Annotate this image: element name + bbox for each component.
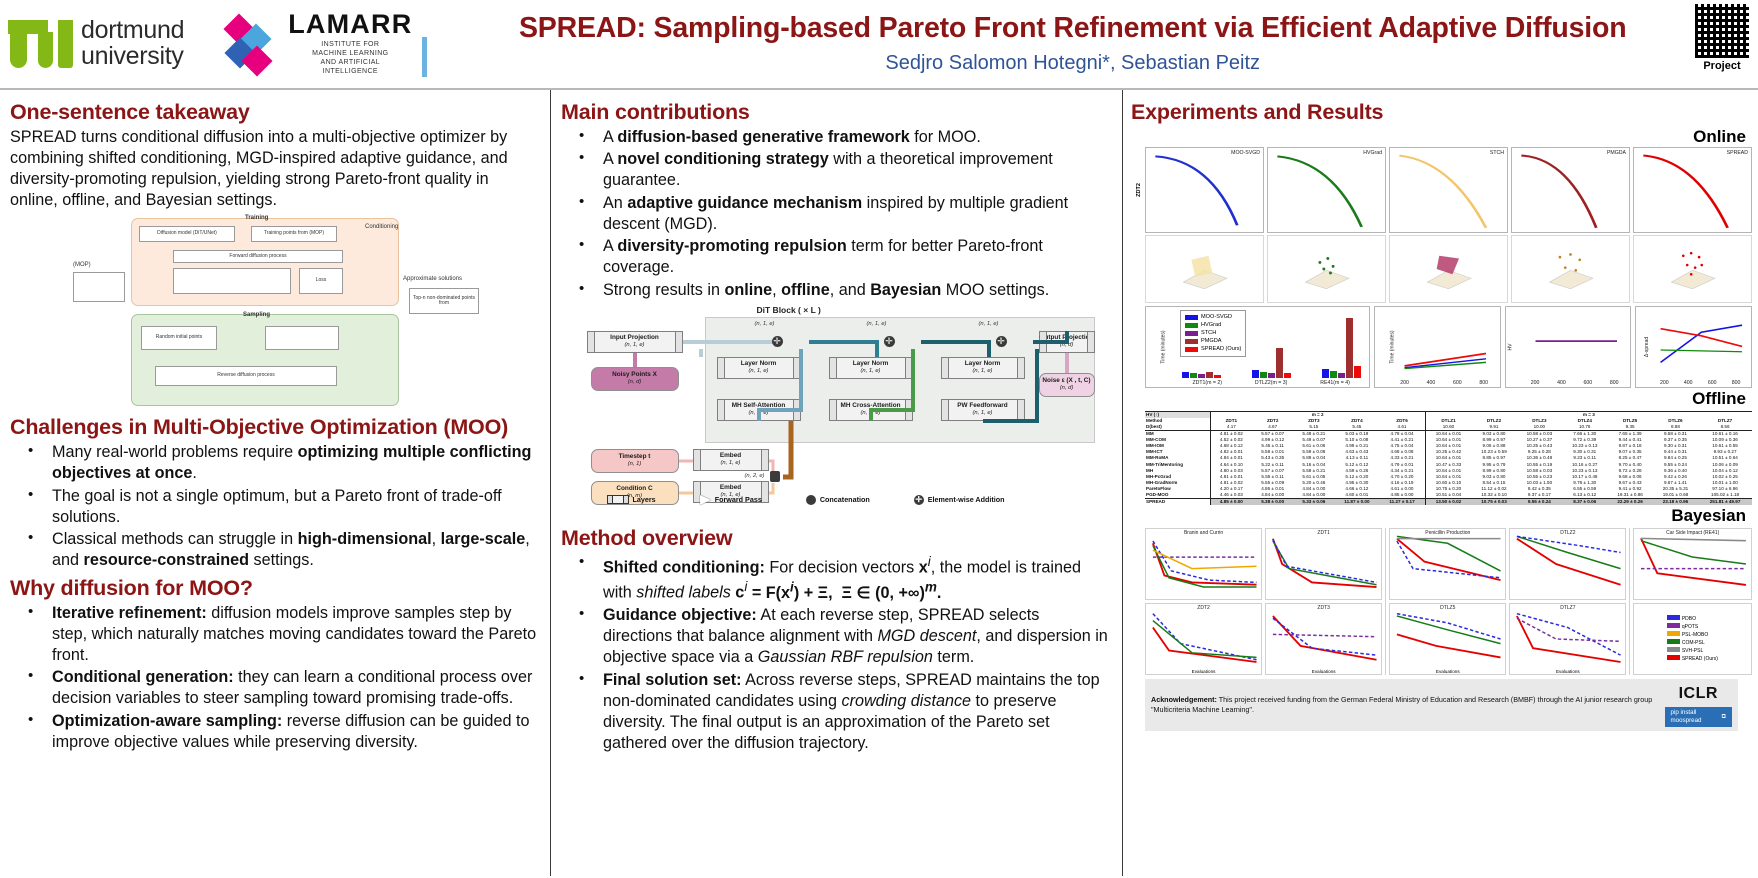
qr-code-icon[interactable] bbox=[1694, 3, 1750, 59]
dit-layer-norm-3-label: Layer Norm bbox=[965, 360, 1001, 368]
pipeline-box-forward-diffusion: Forward diffusion process bbox=[173, 250, 343, 263]
plot-3d-hvgrad bbox=[1267, 235, 1386, 303]
dit-noise-output-label: Noise ε (X , t, C) bbox=[1042, 377, 1090, 385]
takeaway-text: SPREAD turns conditional diffusion into … bbox=[10, 127, 540, 211]
copy-icon[interactable]: ⧉ bbox=[1722, 713, 1726, 721]
column-left: One-sentence takeaway SPREAD turns condi… bbox=[0, 90, 550, 876]
bayes-plot-penicillin: Penicillin Production bbox=[1389, 528, 1506, 600]
bayes-plot-title: Branin and Currin bbox=[1146, 530, 1261, 536]
chart-time-vs-n: Time (minutes) 200 400 600 800 bbox=[1374, 306, 1501, 388]
pipeline-training-label: Training bbox=[245, 215, 268, 221]
online-3d-plots: DTLZ7 bbox=[1131, 235, 1752, 303]
tag-bayesian: Bayesian bbox=[1131, 506, 1746, 526]
plus-circle-icon: ✛ bbox=[914, 495, 924, 505]
bayes-xlabel: Evaluations bbox=[1146, 669, 1261, 674]
dit-mh-cross-attention: MH Cross-Attention (n, 1, e) bbox=[829, 399, 913, 421]
poster-authors: Sedjro Salomon Hotegni*, Sebastian Peitz bbox=[397, 52, 1748, 75]
dit-layer-norm-3: Layer Norm (n, 1, e) bbox=[941, 357, 1025, 379]
bayes-plot-title: ZDT3 bbox=[1266, 605, 1381, 611]
dit-dim-tag-1: (n, 1, e) bbox=[755, 321, 775, 327]
list-item: A novel conditioning strategy with a the… bbox=[561, 149, 1112, 191]
dit-embed-timestep-dim: (n, 1, e) bbox=[721, 460, 741, 467]
dit-noise-output-dim: (n, d) bbox=[1060, 385, 1074, 392]
dit-pw-feedforward: PW Feedforward (n, 1, e) bbox=[941, 399, 1025, 421]
table-cell: 11.87 ± 0.00 bbox=[1334, 498, 1379, 505]
table-cell: 11.27 ± 0.17 bbox=[1379, 498, 1425, 505]
figure-training-sampling-pipeline: Training Sampling Conditioning (MOP) App… bbox=[65, 216, 485, 411]
table-cell: 4.85 ± 0.00 bbox=[1210, 498, 1252, 505]
dit-legend: Layers Forward Pass Concatenation ✛ Elem… bbox=[607, 495, 1087, 505]
line-chart-spread-xticks: 200 400 600 800 bbox=[1652, 380, 1748, 386]
poster-title: SPREAD: Sampling-based Pareto Front Refi… bbox=[397, 13, 1748, 44]
table-cell: 23.18 ± 0.96 bbox=[1653, 498, 1698, 505]
table-cell: 5.33 ± 0.06 bbox=[1293, 498, 1334, 505]
bayes-plot-title: ZDT1 bbox=[1266, 530, 1381, 536]
project-qr-block[interactable]: Project bbox=[1694, 3, 1750, 72]
table-row: SPREAD4.85 ± 0.005.38 ± 0.005.33 ± 0.061… bbox=[1145, 498, 1752, 505]
dit-mh-self-attention-dim: (n, 1, e) bbox=[749, 410, 769, 417]
dit-noisy-points: Noisy Points X (n, d) bbox=[591, 367, 679, 391]
dit-output-projection: Output Projection (n, d) bbox=[1039, 331, 1095, 353]
table-cell: 10.75 ± 0.03 bbox=[1471, 498, 1516, 505]
bayes-plot-dtlz5: DTLZ5 Evaluations bbox=[1389, 603, 1506, 675]
list-item: An adaptive guidance mechanism inspired … bbox=[561, 193, 1112, 235]
acknowledgement-block: Acknowledgement: This project received f… bbox=[1145, 679, 1738, 731]
tu-logo-wordmark: dortmund university bbox=[81, 18, 184, 70]
plot-3d-spread bbox=[1633, 235, 1752, 303]
acknowledgement-label: Acknowledgement: bbox=[1151, 695, 1217, 704]
dit-pw-feedforward-label: PW Feedforward bbox=[957, 402, 1007, 410]
legend-row: PSL-MOBO bbox=[1667, 631, 1718, 639]
bayes-plot-zdt3: ZDT3 Evaluations bbox=[1265, 603, 1382, 675]
offline-results-table-wrap: HV (↑) m = 2 m = 3 Method ZDT1 ZDT2 ZDT3… bbox=[1131, 411, 1752, 505]
bayes-plot-title: DTLZ7 bbox=[1510, 605, 1625, 611]
section-contributions-heading: Main contributions bbox=[561, 100, 1112, 125]
pipeline-box-loss: Loss bbox=[299, 268, 343, 294]
bayes-plot-branin-currin: Branin and Currin bbox=[1145, 528, 1262, 600]
dit-mh-cross-attention-dim: (n, 1, e) bbox=[861, 410, 881, 417]
line-chart-hv-xticks: 200 400 600 800 bbox=[1522, 380, 1628, 386]
table-cell: 13.50 ± 0.02 bbox=[1425, 498, 1471, 505]
section-why-diffusion-heading: Why diffusion for MOO? bbox=[10, 576, 540, 601]
pipeline-box-topn: Top-n non-dominated points from bbox=[409, 288, 479, 314]
list-item: Classical methods can struggle in high-d… bbox=[10, 529, 540, 571]
dit-layer-norm-1-label: Layer Norm bbox=[741, 360, 777, 368]
dit-embed-timestep: Embed (n, 1, e) bbox=[693, 449, 769, 471]
dit-layer-norm-3-dim: (n, 1, e) bbox=[973, 368, 993, 375]
dit-layer-norm-2-dim: (n, 1, e) bbox=[861, 368, 881, 375]
list-item: Optimization-aware sampling: reverse dif… bbox=[10, 711, 540, 753]
dit-timestep-dim: (n, 1) bbox=[628, 461, 642, 468]
iclr-logo: ICLR pip install moospread ⧉ bbox=[1665, 683, 1732, 727]
legend-row: qPOTS bbox=[1667, 623, 1718, 631]
legend-layers-label: Layers bbox=[633, 495, 656, 504]
pipeline-box-diffusion-model: Diffusion model (DiT/UNet) bbox=[139, 226, 235, 242]
dit-add-node-3: ✛ bbox=[996, 336, 1007, 347]
legend-row: SPREAD (Ours) bbox=[1667, 655, 1718, 663]
bayes-xlabel: Evaluations bbox=[1266, 669, 1381, 674]
challenges-list: Many real-world problems require optimiz… bbox=[10, 442, 540, 571]
bayes-plot-zdt1: ZDT1 bbox=[1265, 528, 1382, 600]
legend-item-forward-pass: Forward Pass bbox=[700, 495, 762, 505]
dit-dim-tag-2: (n, 1, e) bbox=[867, 321, 887, 327]
method-list: Shifted conditioning: For decision vecto… bbox=[561, 553, 1112, 755]
dit-embed-condition-label: Embed bbox=[720, 484, 741, 492]
legend-item-layers: Layers bbox=[607, 495, 656, 504]
dit-mh-self-attention: MH Self-Attention (n, 1, e) bbox=[717, 399, 801, 421]
online-row-label: ZDT2 bbox=[1136, 183, 1142, 197]
list-item: Many real-world problems require optimiz… bbox=[10, 442, 540, 484]
dit-noisy-points-label: Noisy Points X bbox=[612, 371, 657, 379]
dit-add-node-2: ✛ bbox=[884, 336, 895, 347]
dit-input-projection-label: Input Projection bbox=[610, 334, 659, 342]
offline-table-body: MM4.81 ± 0.025.57 ± 0.075.48 ± 0.215.03 … bbox=[1145, 431, 1752, 505]
legend-addition-label: Element-wise Addition bbox=[928, 495, 1005, 504]
section-takeaway-heading: One-sentence takeaway bbox=[10, 100, 540, 125]
acknowledgement-body: This project received funding from the G… bbox=[1151, 695, 1652, 714]
dit-output-projection-label: Output Projection bbox=[1040, 334, 1094, 342]
pareto-plot-moo-svgd: ZDT2 MOO-SVGD bbox=[1145, 147, 1264, 233]
line-chart-spread-ylabel: Δ-spread bbox=[1645, 337, 1651, 357]
bar-chart-ylabel: Time (minutes) bbox=[1161, 330, 1167, 363]
table-row-method: SPREAD bbox=[1145, 498, 1210, 505]
dit-block-title: DiT Block ( × L ) bbox=[757, 305, 821, 315]
legend-row: SVH-PSL bbox=[1667, 647, 1718, 655]
why-diffusion-list: Iterative refinement: diffusion models i… bbox=[10, 603, 540, 754]
bayes-xlabel: Evaluations bbox=[1510, 669, 1625, 674]
figure-dit-architecture: DiT Block ( × L ) Input Projection (n, 1… bbox=[577, 305, 1097, 520]
bayes-xlabel: Evaluations bbox=[1390, 669, 1505, 674]
list-item: Shifted conditioning: For decision vecto… bbox=[561, 553, 1112, 604]
legend-concatenation-label: Concatenation bbox=[820, 495, 870, 504]
table-cell: 251.81 ± 49.97 bbox=[1698, 498, 1752, 505]
bayes-plot-dtlz2: DTLZ2 bbox=[1509, 528, 1626, 600]
title-block: SPREAD: Sampling-based Pareto Front Refi… bbox=[387, 13, 1758, 74]
lamarr-logo-icon bbox=[226, 16, 282, 72]
dit-timestep-label: Timestep t bbox=[619, 453, 651, 461]
list-item: A diversity-promoting repulsion term for… bbox=[561, 236, 1112, 278]
tu-line-1: dortmund bbox=[81, 18, 184, 44]
tag-online: Online bbox=[1131, 127, 1746, 147]
bayes-plot-title: DTLZ2 bbox=[1510, 530, 1625, 536]
tu-dortmund-logo: dortmund university bbox=[8, 18, 184, 70]
list-item: Strong results in online, offline, and B… bbox=[561, 280, 1112, 301]
contributions-list: A diffusion-based generative framework f… bbox=[561, 127, 1112, 301]
chart-spread-vs-n: Δ-spread 200 400 600 800 bbox=[1635, 306, 1752, 388]
legend-forward-pass-label: Forward Pass bbox=[715, 495, 762, 504]
list-item: Conditional generation: they can learn a… bbox=[10, 667, 540, 709]
chart-time-bars: Time (minutes) MOO-SVGD HVGrad STCH PMGD… bbox=[1145, 306, 1370, 388]
section-challenges-heading: Challenges in Multi-Objective Optimizati… bbox=[10, 415, 540, 440]
dit-layer-norm-2: Layer Norm (n, 1, e) bbox=[829, 357, 913, 379]
table-cell: 9.55 ± 0.24 bbox=[1517, 498, 1562, 505]
pipeline-approx-label: Approximate solutions bbox=[403, 276, 462, 282]
legend-item-concatenation: Concatenation bbox=[806, 495, 870, 505]
dit-input-projection: Input Projection (n, 1, e) bbox=[587, 331, 683, 353]
dit-input-projection-dim: (n, 1, e) bbox=[625, 342, 645, 349]
list-item: Iterative refinement: diffusion models i… bbox=[10, 603, 540, 667]
bayes-plot-car-side-impact: Car Side Impact (RE41) bbox=[1633, 528, 1752, 600]
pareto-plot-hvgrad: HVGrad bbox=[1267, 147, 1386, 233]
line-chart-time-xticks: 200 400 600 800 bbox=[1391, 380, 1497, 386]
dit-noisy-points-dim: (n, d) bbox=[628, 379, 642, 386]
legend-row: COM-PSL bbox=[1667, 639, 1718, 647]
line-chart-hv-ylabel: HV bbox=[1507, 344, 1513, 351]
dit-block-panel bbox=[705, 317, 1095, 443]
bayes-plot-title: DTLZ5 bbox=[1390, 605, 1505, 611]
pipeline-mop-label: (MOP) bbox=[73, 262, 91, 268]
legend-item-element-wise-addition: ✛ Element-wise Addition bbox=[914, 495, 1005, 505]
plot-3d-moo-svgd: DTLZ7 bbox=[1145, 235, 1264, 303]
list-item: A diffusion-based generative framework f… bbox=[561, 127, 1112, 148]
pip-command-text: pip install moospread bbox=[1671, 709, 1716, 726]
dit-noise-output: Noise ε (X , t, C) (n, d) bbox=[1039, 373, 1095, 397]
dit-layer-norm-2-label: Layer Norm bbox=[853, 360, 889, 368]
pipeline-conditioning-label: Conditioning bbox=[365, 224, 398, 230]
column-middle: Main contributions A diffusion-based gen… bbox=[550, 90, 1122, 876]
bayes-plot-title: Car Side Impact (RE41) bbox=[1634, 530, 1751, 536]
online-pareto-plots: ZDT2 MOO-SVGD HVGrad STCH PMGDA SP bbox=[1131, 147, 1752, 233]
section-method-heading: Method overview bbox=[561, 526, 1112, 551]
poster-root: dortmund university LAMARR INSTITUTE FOR… bbox=[0, 0, 1758, 878]
poster-header: dortmund university LAMARR INSTITUTE FOR… bbox=[0, 0, 1758, 90]
chart-hv-vs-n: HV 200 400 600 800 bbox=[1505, 306, 1632, 388]
iclr-label: ICLR bbox=[1679, 683, 1718, 705]
pipeline-box-reverse-diffusion: Reverse diffusion process bbox=[155, 366, 337, 386]
pip-install-command[interactable]: pip install moospread ⧉ bbox=[1665, 707, 1732, 728]
legend-row: PDBO bbox=[1667, 615, 1718, 623]
table-cell: 8.37 ± 0.06 bbox=[1562, 498, 1607, 505]
bayes-plot-zdt2: ZDT2 Evaluations bbox=[1145, 603, 1262, 675]
concatenation-icon bbox=[806, 495, 816, 505]
pipeline-box-denoise bbox=[173, 268, 291, 294]
column-right: Experiments and Results Online ZDT2 MOO-… bbox=[1122, 90, 1758, 876]
dit-concat-node bbox=[770, 471, 780, 482]
dit-mh-self-attention-label: MH Self-Attention bbox=[732, 402, 786, 410]
pipeline-box-mop bbox=[73, 272, 125, 302]
bar-chart-plot-area bbox=[1174, 313, 1365, 378]
online-metric-charts: Time (minutes) MOO-SVGD HVGrad STCH PMGD… bbox=[1131, 306, 1752, 388]
pipeline-sampling-label: Sampling bbox=[243, 312, 270, 318]
tag-offline: Offline bbox=[1131, 389, 1746, 409]
pareto-plot-spread: SPREAD bbox=[1633, 147, 1752, 233]
section-experiments-heading: Experiments and Results bbox=[1131, 100, 1752, 125]
arrow-right-icon bbox=[700, 495, 711, 505]
bayesian-plot-grid: Branin and Currin ZDT1 ZDT2 Evaluations bbox=[1131, 528, 1752, 675]
bayes-plot-dtlz7: DTLZ7 Evaluations bbox=[1509, 603, 1626, 675]
dit-embed-timestep-label: Embed bbox=[720, 452, 741, 460]
offline-results-table: HV (↑) m = 2 m = 3 Method ZDT1 ZDT2 ZDT3… bbox=[1145, 411, 1752, 505]
dit-condition-label: Condition C bbox=[616, 485, 652, 493]
tu-logo-icon bbox=[8, 18, 74, 70]
bayesian-legend: PDBO qPOTS PSL-MOBO COM-PSL SVH-PSL SPRE… bbox=[1633, 603, 1752, 675]
plot-3d-stch bbox=[1389, 235, 1508, 303]
dit-layer-norm-1: Layer Norm (n, 1, e) bbox=[717, 357, 801, 379]
dit-mh-cross-attention-label: MH Cross-Attention bbox=[841, 402, 901, 410]
bayes-plot-title: Penicillin Production bbox=[1390, 530, 1505, 536]
list-item: The goal is not a single optimum, but a … bbox=[10, 486, 540, 528]
pipeline-box-random-init: Random initial points bbox=[141, 326, 217, 350]
table-cell: 22.29 ± 0.26 bbox=[1607, 498, 1652, 505]
dit-timestep: Timestep t (n, 1) bbox=[591, 449, 679, 473]
bar-chart-xticks: ZDT1(m = 2) DTLZ2(m = 3) RE41(m = 4) bbox=[1176, 380, 1366, 386]
pareto-plot-stch: STCH bbox=[1389, 147, 1508, 233]
list-item: Guidance objective: At each reverse step… bbox=[561, 605, 1112, 669]
qr-caption: Project bbox=[1694, 60, 1750, 72]
table-cell: 5.38 ± 0.00 bbox=[1252, 498, 1293, 505]
list-item: Final solution set: Across reverse steps… bbox=[561, 670, 1112, 755]
acknowledgement-text: Acknowledgement: This project received f… bbox=[1151, 695, 1657, 714]
pipeline-box-sampling-conditioning bbox=[265, 326, 339, 350]
plot-3d-pmgda bbox=[1511, 235, 1630, 303]
bayes-plot-title: ZDT2 bbox=[1146, 605, 1261, 611]
pipeline-box-training-points: Training points from (MOP) bbox=[251, 226, 337, 242]
tu-line-2: university bbox=[81, 44, 184, 70]
dit-dim-tag-3: (n, 1, e) bbox=[979, 321, 999, 327]
layers-icon bbox=[607, 495, 629, 504]
dit-pw-feedforward-dim: (n, 1, e) bbox=[973, 410, 993, 417]
dit-output-projection-dim: (n, d) bbox=[1060, 342, 1074, 349]
dit-layer-norm-1-dim: (n, 1, e) bbox=[749, 368, 769, 375]
dit-dim-tag-concat: (n, 2, e) bbox=[745, 473, 765, 479]
poster-columns: One-sentence takeaway SPREAD turns condi… bbox=[0, 90, 1758, 876]
dit-add-node-1: ✛ bbox=[772, 336, 783, 347]
pareto-plot-pmgda: PMGDA bbox=[1511, 147, 1630, 233]
